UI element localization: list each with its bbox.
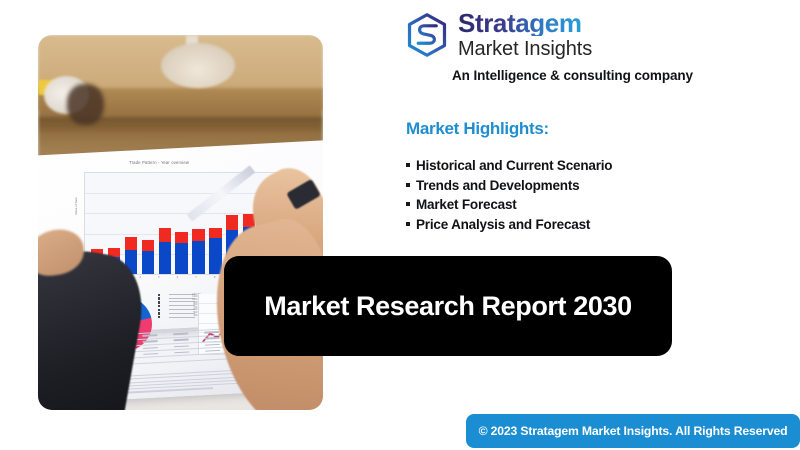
photo-bar [192, 229, 204, 274]
photo-bar [175, 232, 187, 274]
brand-name-primary: Stratagem [458, 10, 592, 36]
copyright-text: © 2023 Stratagem Market Insights. All Ri… [479, 424, 788, 438]
list-item-label: Price Analysis and Forecast [416, 217, 590, 232]
copyright-footer-bar: © 2023 Stratagem Market Insights. All Ri… [466, 414, 800, 448]
list-item-label: Trends and Developments [416, 178, 579, 193]
photo-bar-chart-y-axis-label: Value of Sale [74, 197, 78, 215]
report-title-banner: Market Research Report 2030 [224, 256, 672, 356]
photo-cup-shadow [67, 84, 104, 125]
brand-logo: Stratagem Market Insights [404, 10, 592, 59]
photo-bar [142, 240, 154, 274]
brand-tagline: An Intelligence & consulting company [452, 68, 693, 83]
market-highlights-list: Historical and Current Scenario Trends a… [406, 158, 612, 236]
list-item: Historical and Current Scenario [406, 158, 612, 173]
bullet-square-icon [406, 222, 410, 226]
market-highlights-heading: Market Highlights: [406, 119, 549, 139]
list-item-label: Market Forecast [416, 197, 517, 212]
photo-bar [159, 228, 171, 274]
list-item: Trends and Developments [406, 178, 612, 193]
bullet-square-icon [406, 163, 410, 167]
photo-lamp-base [161, 43, 235, 88]
hexagon-s-logo-icon [404, 12, 450, 58]
list-item-label: Historical and Current Scenario [416, 158, 612, 173]
page-title: Market Research Report 2030 [264, 291, 631, 322]
bullet-square-icon [406, 202, 410, 206]
photo-bar-chart-title: Trade Pattern - Year overview [129, 160, 189, 165]
list-item: Price Analysis and Forecast [406, 217, 612, 232]
list-item: Market Forecast [406, 197, 612, 212]
brand-wordmark: Stratagem Market Insights [458, 10, 592, 59]
brand-name-secondary: Market Insights [458, 39, 592, 59]
bullet-square-icon [406, 183, 410, 187]
